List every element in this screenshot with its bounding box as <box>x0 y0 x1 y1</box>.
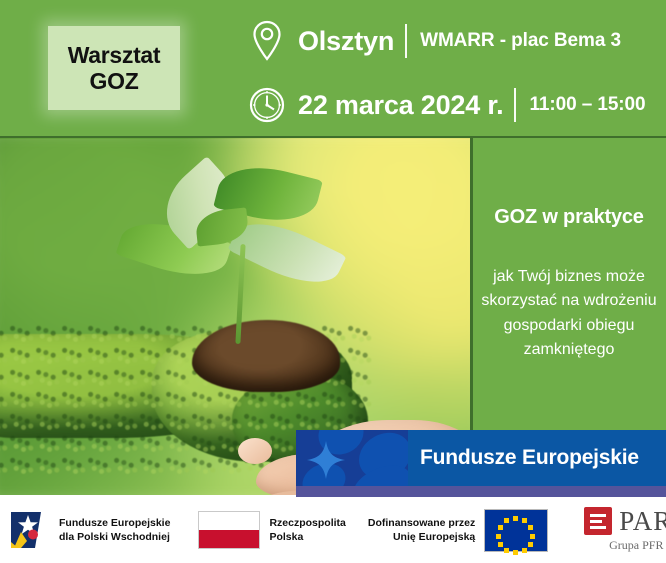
banner-purple-bar <box>296 486 666 497</box>
parp-name: PARP <box>619 508 666 535</box>
eu-logo-line-2: Unię Europejską <box>368 530 475 544</box>
date-label: 22 marca 2024 r. <box>298 90 503 121</box>
map-pin-icon <box>246 18 288 64</box>
clock-icon <box>246 82 288 128</box>
banner-title: Fundusze Europejskie <box>420 430 639 486</box>
rp-logo-text: Rzeczpospolita Polska <box>269 516 345 544</box>
location-row: Olsztyn WMARR - plac Bema 3 <box>246 14 621 68</box>
fe-logo-line-2: dla Polski Wschodniej <box>59 530 170 544</box>
poster-header: Warsztat GOZ Olsztyn WMARR - plac Bema 3 <box>0 0 666 136</box>
eu-logo-text: Dofinansowane przez Unię Europejską <box>368 516 475 544</box>
poster-footer: Fundusze Europejskie dla Polski Wschodni… <box>0 497 666 563</box>
eu-logo-line-1: Dofinansowane przez <box>368 516 475 530</box>
parp-subtitle: Grupa PFR <box>609 538 663 553</box>
poland-flag-icon <box>198 511 260 549</box>
time-label: 11:00 – 15:00 <box>529 94 645 116</box>
fe-logo-text: Fundusze Europejskie dla Polski Wschodni… <box>59 516 170 544</box>
banner-pattern <box>296 430 408 486</box>
fe-polska-wschodnia-logo: Fundusze Europejskie dla Polski Wschodni… <box>0 508 170 552</box>
parp-logo-main: PARP <box>584 507 666 535</box>
fundusze-europejskie-banner: Fundusze Europejskie <box>296 430 666 486</box>
rp-logo-line-2: Polska <box>269 530 345 544</box>
panel-body-text: jak Twój biznes może skorzystać na wdroż… <box>474 265 664 362</box>
soil-clump <box>192 320 340 392</box>
header-divider-2 <box>514 88 516 122</box>
parp-red-mark-icon <box>584 507 612 535</box>
venue-label: WMARR - plac Bema 3 <box>420 30 621 52</box>
city-label: Olsztyn <box>298 26 394 57</box>
european-union-logo: Dofinansowane przez Unię Europejską <box>368 509 548 552</box>
panel-heading: GOZ w praktyce <box>474 206 664 229</box>
fundusze-europejskie-star-logo <box>8 508 50 552</box>
rp-logo-line-1: Rzeczpospolita <box>269 516 345 530</box>
fe-logo-line-1: Fundusze Europejskie <box>59 516 170 530</box>
datetime-row: 22 marca 2024 r. 11:00 – 15:00 <box>246 80 645 130</box>
four-point-star-icon <box>306 440 346 480</box>
human-thumb-tip <box>238 438 272 464</box>
workshop-badge: Warsztat GOZ <box>48 26 180 110</box>
rzeczpospolita-polska-logo: Rzeczpospolita Polska <box>198 511 345 549</box>
event-poster: Warsztat GOZ Olsztyn WMARR - plac Bema 3 <box>0 0 666 563</box>
parp-logo: PARP Grupa PFR <box>584 507 666 553</box>
header-divider-1 <box>405 24 407 58</box>
badge-line-1: Warsztat <box>68 42 161 68</box>
badge-line-2: GOZ <box>90 68 139 94</box>
european-union-flag-icon <box>484 509 548 552</box>
